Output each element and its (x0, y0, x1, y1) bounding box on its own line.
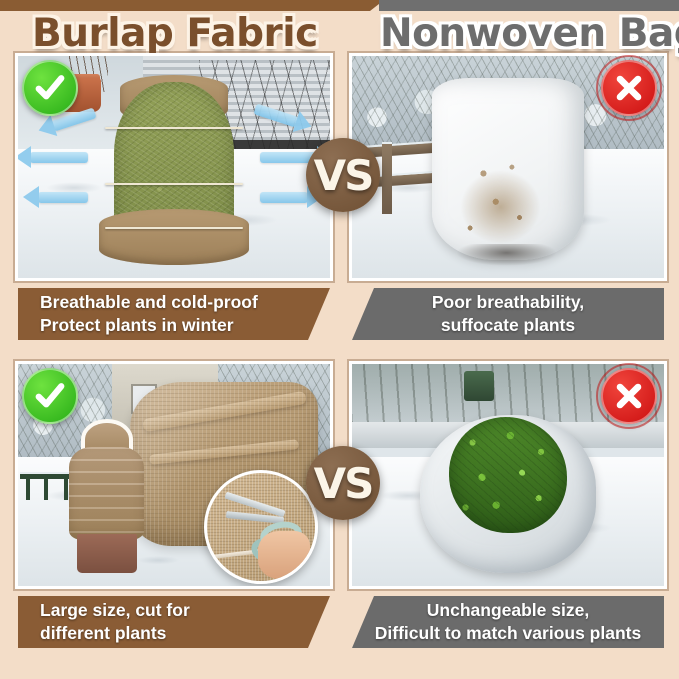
plant-pot (77, 534, 136, 573)
infographic-canvas: Burlap Fabric Nonwoven Bags (0, 0, 679, 679)
green-bin (464, 371, 494, 401)
top-accent-bar-left (0, 0, 370, 11)
check-glyph (32, 70, 68, 106)
check-glyph (32, 378, 68, 414)
burlap-bottom-wrap (99, 209, 249, 265)
caption-line-2: different plants (40, 622, 330, 645)
caption-line-2: Difficult to match various plants (375, 622, 641, 645)
inset-scissors-closeup (204, 470, 318, 584)
caption-nonwoven-suffocate: Poor breathability, suffocate plants (352, 288, 664, 340)
twine-tie-2 (105, 183, 243, 185)
burlap-fold-2 (149, 440, 299, 466)
burlap-wrap-body (69, 447, 144, 540)
picket-2 (44, 472, 48, 500)
caption-line-1: Poor breathability, (432, 291, 584, 314)
cross-glyph (611, 378, 647, 414)
twine-tie-3 (105, 227, 243, 229)
heading-nonwoven-bags: Nonwoven Bags (380, 12, 679, 58)
vs-badge-top: VS (306, 138, 380, 212)
heading-burlap-fabric: Burlap Fabric (32, 12, 318, 58)
caption-line-2: suffocate plants (441, 314, 575, 337)
cross-glyph (611, 70, 647, 106)
burlap-wrapped-shrub (99, 79, 249, 265)
check-icon (22, 60, 78, 116)
picket-1 (26, 472, 30, 500)
airflow-arrow-left-2 (38, 192, 88, 203)
check-icon (22, 368, 78, 424)
fence-post-1 (382, 142, 392, 214)
burlap-fold-1 (142, 391, 306, 432)
cross-icon (601, 368, 657, 424)
caption-line-1: Large size, cut for (40, 599, 330, 622)
caption-burlap-cuttable: Large size, cut for different plants (18, 596, 330, 648)
white-nonwoven-bag (432, 78, 584, 260)
hand (258, 531, 310, 579)
vs-badge-bottom: VS (306, 446, 380, 520)
caption-line-2: Protect plants in winter (40, 314, 330, 337)
caption-burlap-breathable: Breathable and cold-proof Protect plants… (18, 288, 330, 340)
caption-line-1: Unchangeable size, (427, 599, 589, 622)
airflow-arrow-left-1 (30, 152, 88, 163)
caption-line-1: Breathable and cold-proof (40, 291, 330, 314)
green-bush-overflowing (449, 417, 567, 533)
burlap-wrapped-potted-plant (68, 423, 146, 573)
cross-icon (601, 60, 657, 116)
airflow-arrow-right-2 (260, 192, 308, 203)
caption-nonwoven-fixed-size: Unchangeable size, Difficult to match va… (352, 596, 664, 648)
top-accent-bar-right (379, 0, 679, 11)
